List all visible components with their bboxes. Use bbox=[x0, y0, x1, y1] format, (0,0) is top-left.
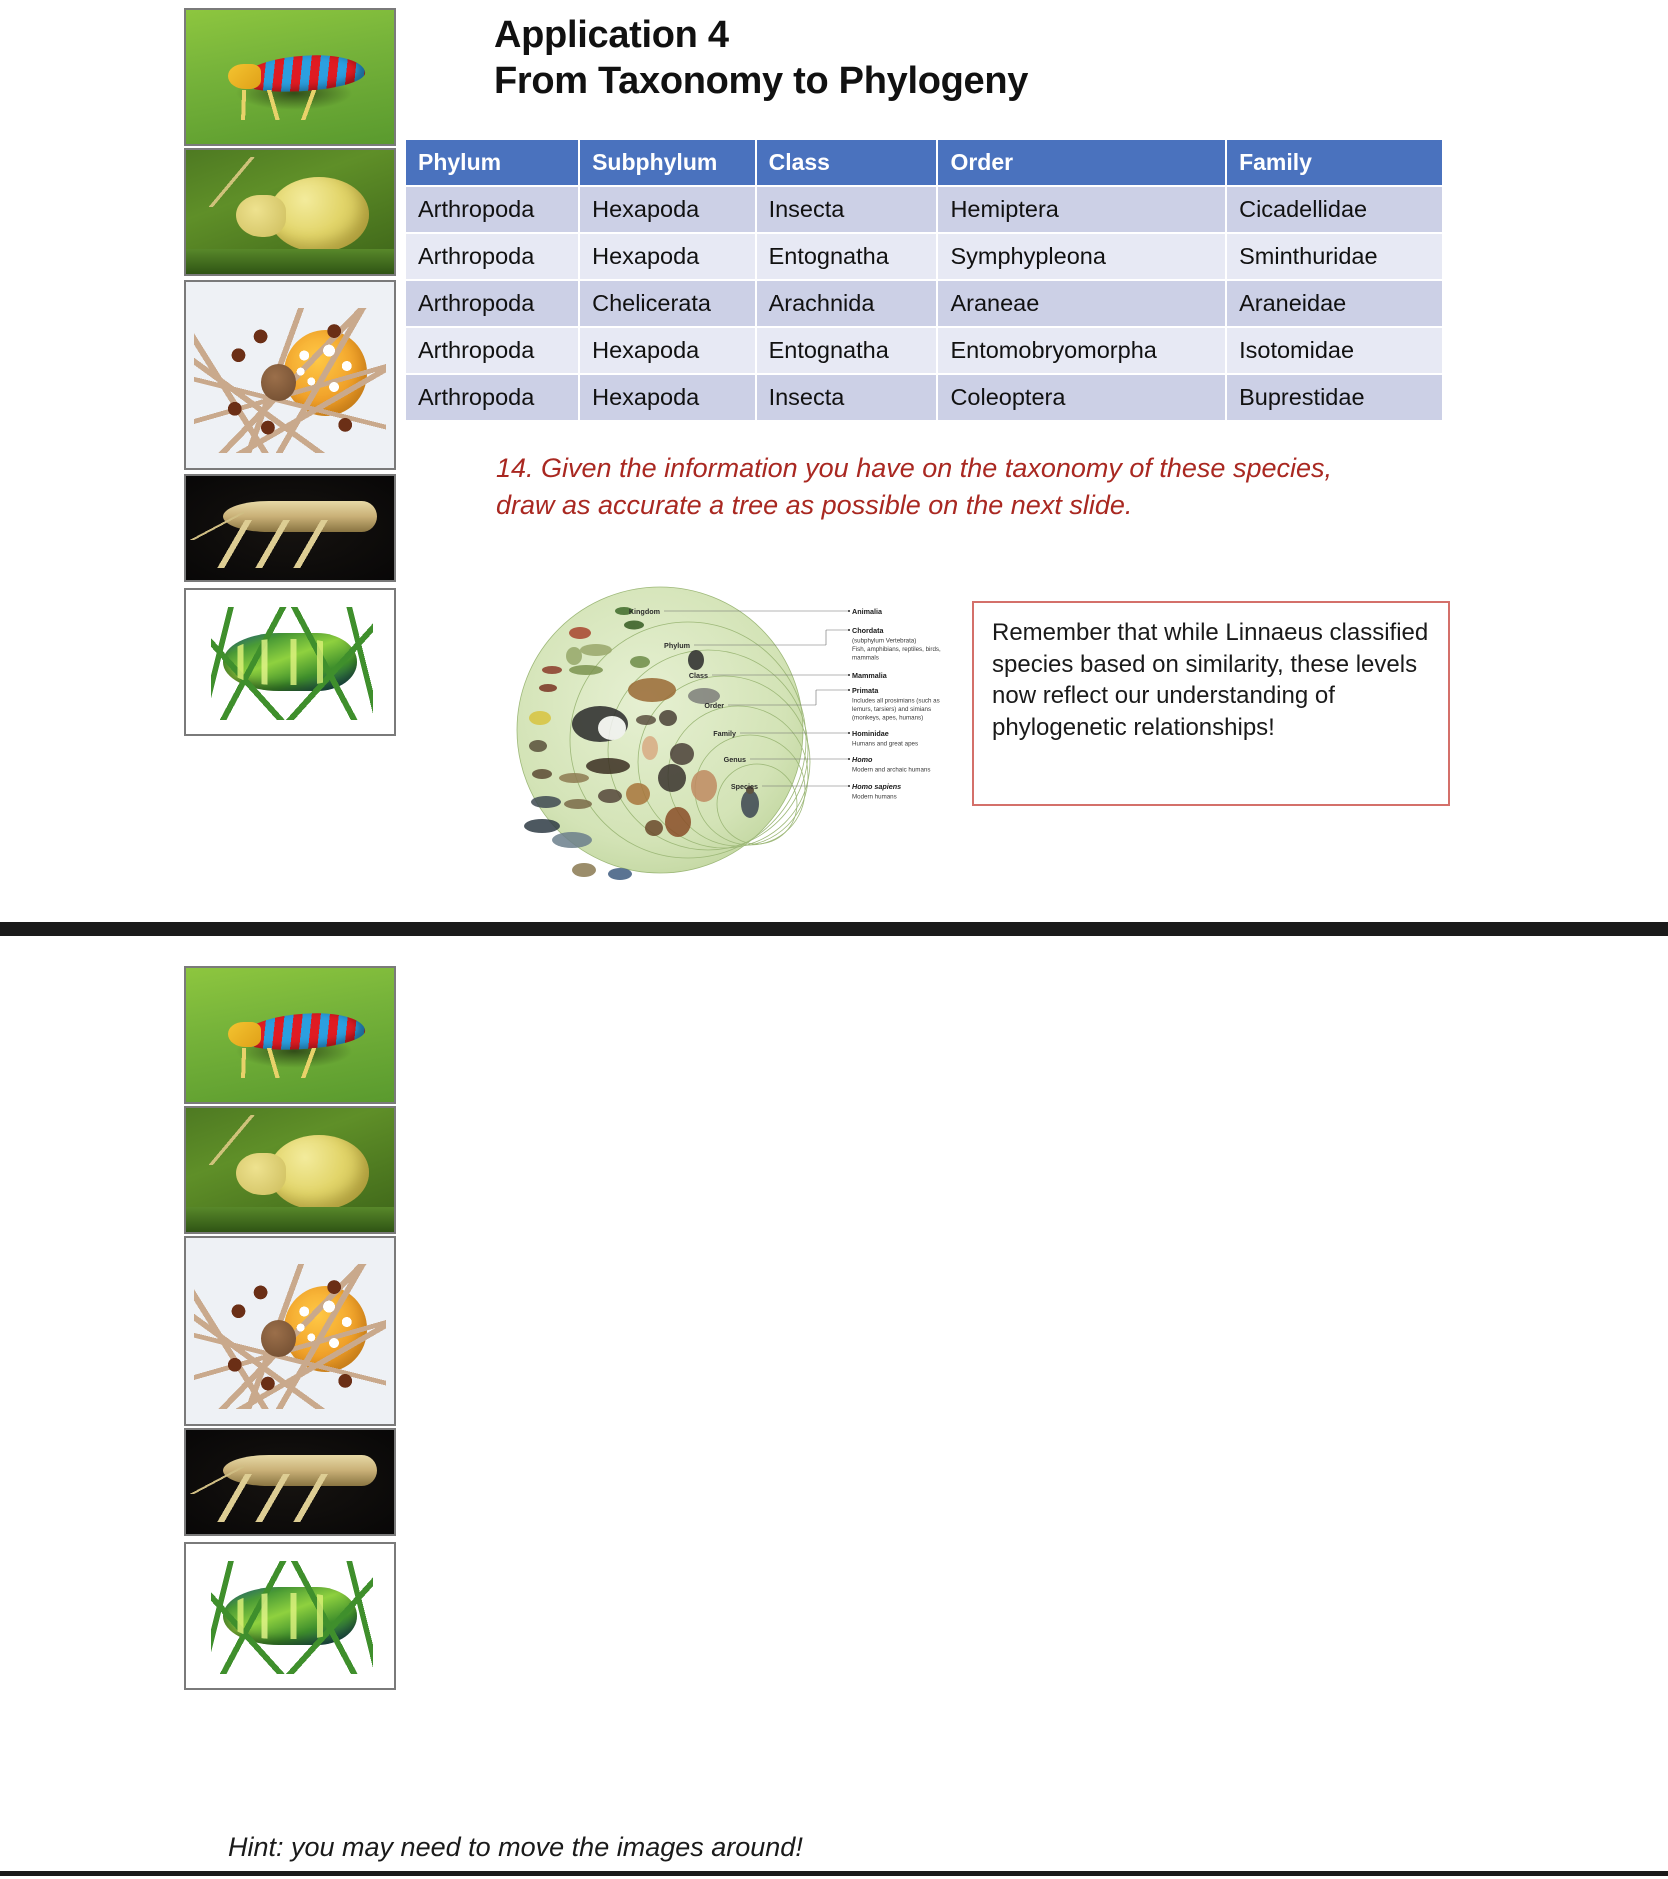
thumbnail-orb-weaver-spider[interactable] bbox=[184, 1236, 396, 1426]
springtail-antenna-icon bbox=[190, 1465, 244, 1494]
hint-text: Hint: you may need to move the images ar… bbox=[228, 1832, 803, 1863]
thumbnail-orb-weaver-spider[interactable] bbox=[184, 280, 396, 470]
column-header-order: Order bbox=[938, 140, 1225, 185]
column-header-class: Class bbox=[757, 140, 937, 185]
cell-order: Coleoptera bbox=[938, 375, 1225, 420]
column-header-phylum: Phylum bbox=[406, 140, 578, 185]
presentation-page: Application 4 From Taxonomy to Phylogeny… bbox=[0, 0, 1668, 1879]
taxon-desc: Modern humans bbox=[852, 794, 897, 801]
elongate-springtail-icon bbox=[186, 476, 394, 580]
taxon-desc: mammals bbox=[852, 655, 879, 662]
taxon-entries: Animalia Chordata (subphylum Vertebrata)… bbox=[852, 607, 941, 801]
thumbnail-globular-springtail[interactable] bbox=[184, 148, 396, 276]
cell-subphylum: Hexapoda bbox=[580, 187, 754, 232]
taxon-desc: lemurs, tarsiers) and simians bbox=[852, 706, 931, 713]
rank-label-genus: Genus bbox=[724, 755, 746, 764]
rank-label-family: Family bbox=[713, 729, 736, 738]
thumbnail-jewel-beetle[interactable] bbox=[184, 588, 396, 736]
taxon-name-mammalia: Mammalia bbox=[852, 671, 888, 680]
jewel-beetle-icon bbox=[186, 590, 394, 734]
globular-springtail-icon bbox=[186, 150, 394, 274]
taxonomy-hierarchy-diagram: Kingdom Phylum Class Order Family Genus bbox=[512, 578, 962, 883]
taxon-bullets bbox=[848, 610, 850, 787]
column-header-family: Family bbox=[1227, 140, 1442, 185]
springtail-antenna-icon bbox=[190, 511, 244, 540]
leafhopper-icon bbox=[186, 10, 394, 144]
leaf-icon bbox=[186, 1207, 394, 1232]
rank-label-phylum: Phylum bbox=[664, 641, 690, 650]
cell-class: Insecta bbox=[757, 187, 937, 232]
slide-2 bbox=[0, 938, 1668, 1879]
thumbnail-globular-springtail[interactable] bbox=[184, 1106, 396, 1234]
taxon-desc: (subphylum Vertebrata) bbox=[852, 638, 916, 645]
jewel-beetle-icon bbox=[186, 1544, 394, 1688]
cell-subphylum: Chelicerata bbox=[580, 281, 754, 326]
taxon-desc: Includes all prosimians (such as bbox=[852, 698, 940, 705]
table-header-row: Phylum Subphylum Class Order Family bbox=[406, 140, 1442, 185]
thumbnail-elongate-springtail[interactable] bbox=[184, 1428, 396, 1536]
taxon-name-homo: Homo bbox=[852, 755, 873, 764]
cell-class: Entognatha bbox=[757, 328, 937, 373]
slide-1: Application 4 From Taxonomy to Phylogeny… bbox=[0, 0, 1668, 925]
cell-order: Entomobryomorpha bbox=[938, 328, 1225, 373]
cell-phylum: Arthropoda bbox=[406, 375, 578, 420]
question-text: 14. Given the information you have on th… bbox=[496, 450, 1376, 525]
eye-icon bbox=[250, 205, 260, 215]
thumbnail-jewel-beetle[interactable] bbox=[184, 1542, 396, 1690]
taxon-name-homo-sapiens: Homo sapiens bbox=[852, 782, 901, 791]
cell-phylum: Arthropoda bbox=[406, 281, 578, 326]
taxonomy-diagram-svg: Kingdom Phylum Class Order Family Genus bbox=[512, 578, 962, 883]
table-row: Arthropoda Hexapoda Insecta Hemiptera Ci… bbox=[406, 187, 1442, 232]
remember-note-text: Remember that while Linnaeus classified … bbox=[992, 619, 1428, 741]
globular-springtail-icon bbox=[186, 1108, 394, 1232]
cell-subphylum: Hexapoda bbox=[580, 375, 754, 420]
page-bottom-rule bbox=[0, 1871, 1668, 1876]
taxon-desc: Modern and archaic humans bbox=[852, 767, 930, 774]
taxon-desc: (monkeys, apes, humans) bbox=[852, 715, 923, 722]
taxon-name-animalia: Animalia bbox=[852, 607, 883, 616]
cell-family: Cicadellidae bbox=[1227, 187, 1442, 232]
taxon-name-chordata: Chordata bbox=[852, 626, 885, 635]
thumbnail-leafhopper[interactable] bbox=[184, 8, 396, 146]
cell-class: Insecta bbox=[757, 375, 937, 420]
taxonomy-table: Phylum Subphylum Class Order Family Arth… bbox=[404, 138, 1444, 422]
slide-divider bbox=[0, 922, 1668, 936]
column-header-subphylum: Subphylum bbox=[580, 140, 754, 185]
spider-abdomen-spots-icon bbox=[290, 338, 361, 409]
eye-icon bbox=[250, 1163, 260, 1173]
orb-weaver-spider-icon bbox=[186, 1238, 394, 1424]
cell-family: Isotomidae bbox=[1227, 328, 1442, 373]
thumbnail-leafhopper[interactable] bbox=[184, 966, 396, 1104]
taxon-desc: Humans and great apes bbox=[852, 741, 918, 748]
cell-family: Araneidae bbox=[1227, 281, 1442, 326]
beetle-elytra-stripes-icon bbox=[228, 1593, 349, 1639]
cell-phylum: Arthropoda bbox=[406, 187, 578, 232]
rank-label-class: Class bbox=[689, 671, 708, 680]
cell-family: Sminthuridae bbox=[1227, 234, 1442, 279]
cell-order: Araneae bbox=[938, 281, 1225, 326]
thumbnail-elongate-springtail[interactable] bbox=[184, 474, 396, 582]
cell-class: Entognatha bbox=[757, 234, 937, 279]
table-row: Arthropoda Hexapoda Entognatha Symphyple… bbox=[406, 234, 1442, 279]
cell-phylum: Arthropoda bbox=[406, 234, 578, 279]
rank-label-species: Species bbox=[731, 782, 758, 791]
cell-phylum: Arthropoda bbox=[406, 328, 578, 373]
title-line-2: From Taxonomy to Phylogeny bbox=[494, 58, 1394, 104]
elongate-springtail-icon bbox=[186, 1430, 394, 1534]
leafhopper-icon bbox=[186, 968, 394, 1102]
title-line-1: Application 4 bbox=[494, 12, 1394, 58]
cell-subphylum: Hexapoda bbox=[580, 234, 754, 279]
beetle-elytra-stripes-icon bbox=[228, 639, 349, 685]
cell-order: Symphypleona bbox=[938, 234, 1225, 279]
taxon-name-hominidae: Hominidae bbox=[852, 729, 889, 738]
cell-order: Hemiptera bbox=[938, 187, 1225, 232]
leafhopper-legs-icon bbox=[232, 1048, 332, 1077]
cell-family: Buprestidae bbox=[1227, 375, 1442, 420]
cell-subphylum: Hexapoda bbox=[580, 328, 754, 373]
taxon-name-primata: Primata bbox=[852, 686, 879, 695]
leaf-icon bbox=[186, 249, 394, 274]
orb-weaver-spider-icon bbox=[186, 282, 394, 468]
spider-abdomen-spots-icon bbox=[290, 1294, 361, 1365]
slide-title: Application 4 From Taxonomy to Phylogeny bbox=[494, 12, 1394, 105]
antenna-icon bbox=[203, 157, 270, 207]
rank-label-kingdom: Kingdom bbox=[629, 607, 660, 616]
remember-note-box: Remember that while Linnaeus classified … bbox=[972, 601, 1450, 806]
table-row: Arthropoda Chelicerata Arachnida Araneae… bbox=[406, 281, 1442, 326]
rank-label-order: Order bbox=[704, 701, 724, 710]
cell-class: Arachnida bbox=[757, 281, 937, 326]
table-row: Arthropoda Hexapoda Insecta Coleoptera B… bbox=[406, 375, 1442, 420]
antenna-icon bbox=[203, 1115, 270, 1165]
leafhopper-legs-icon bbox=[232, 90, 332, 119]
taxon-desc: Fish, amphibians, reptiles, birds, bbox=[852, 646, 941, 653]
table-row: Arthropoda Hexapoda Entognatha Entomobry… bbox=[406, 328, 1442, 373]
